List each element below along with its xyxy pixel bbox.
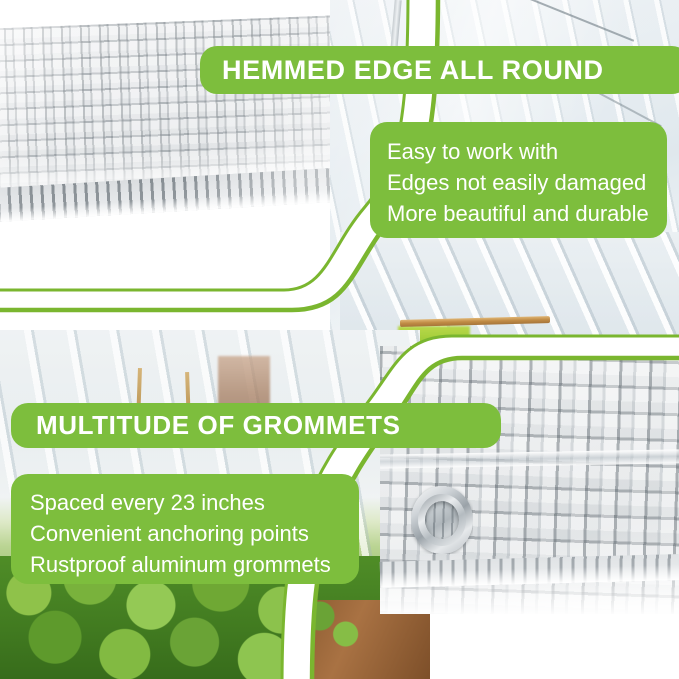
panel-title-grommets: MULTITUDE OF GROMMETS — [11, 403, 501, 448]
tarp-highlight-overlay — [0, 13, 344, 216]
bullet-line: Rustproof aluminum grommets — [30, 549, 359, 580]
panel-body-hemmed-edge: Easy to work with Edges not easily damag… — [370, 122, 667, 238]
bullet-line: Easy to work with — [387, 136, 667, 167]
aluminum-grommet — [411, 486, 473, 554]
panel-title-hemmed-edge: HEMMED EDGE ALL ROUND — [200, 46, 679, 94]
bullet-line: More beautiful and durable — [387, 198, 667, 229]
bullet-line: Spaced every 23 inches — [30, 487, 359, 518]
bullet-line: Edges not easily damaged — [387, 167, 667, 198]
panel-body-grommets: Spaced every 23 inches Convenient anchor… — [11, 474, 359, 584]
product-infographic: HEMMED EDGE ALL ROUND Easy to work with … — [0, 0, 679, 679]
divider-left-fill — [0, 313, 292, 330]
bullet-line: Convenient anchoring points — [30, 518, 359, 549]
grommet-hole — [425, 501, 459, 539]
soil-edge-foliage — [296, 592, 376, 652]
